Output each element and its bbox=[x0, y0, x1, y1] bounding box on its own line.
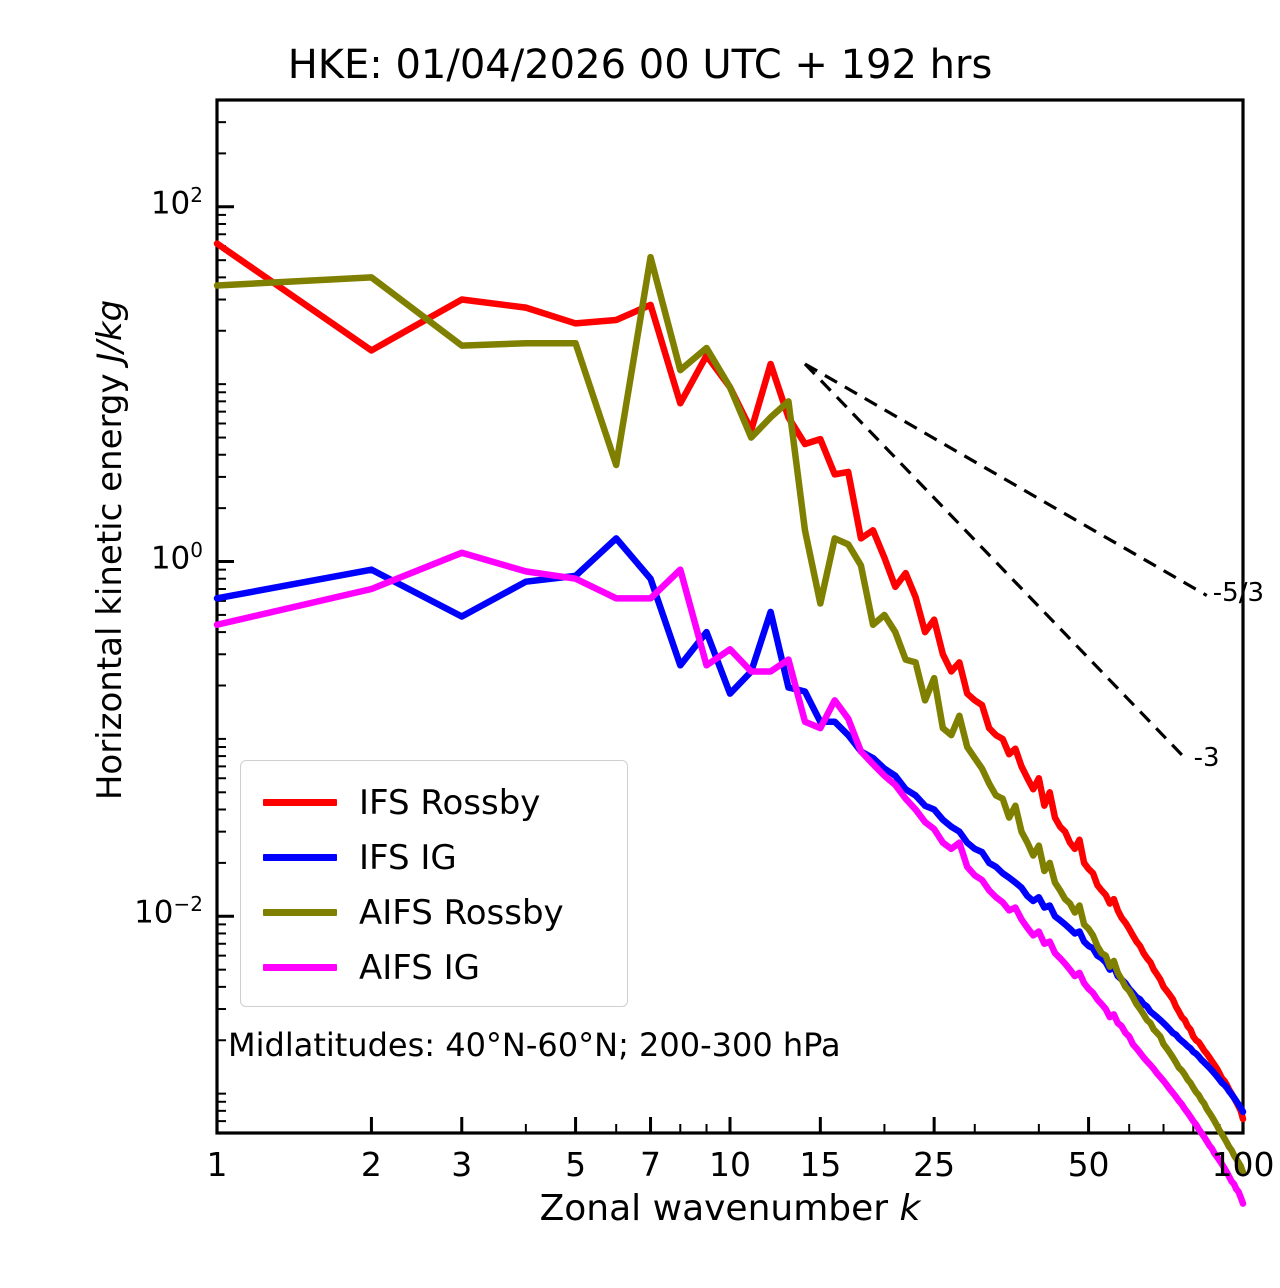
y-tick-label: 10−2 bbox=[134, 892, 203, 930]
legend-label: IFS Rossby bbox=[359, 783, 540, 823]
legend-swatch bbox=[263, 964, 337, 971]
legend-swatch bbox=[263, 854, 337, 861]
legend-label: AIFS IG bbox=[359, 948, 480, 988]
reference-lines bbox=[805, 364, 1207, 761]
x-tick-label: 10 bbox=[680, 1145, 780, 1184]
legend-item-aifs-ig[interactable]: AIFS IG bbox=[241, 940, 627, 995]
x-tick-label: 2 bbox=[321, 1145, 421, 1184]
legend-item-ifs-rossby[interactable]: IFS Rossby bbox=[241, 775, 627, 830]
x-tick-label: 15 bbox=[770, 1145, 870, 1184]
chart-figure: HKE: 01/04/2026 00 UTC + 192 hrs Horizon… bbox=[0, 0, 1280, 1288]
legend-item-aifs-rossby[interactable]: AIFS Rossby bbox=[241, 885, 627, 940]
legend[interactable]: IFS RossbyIFS IGAIFS RossbyAIFS IG bbox=[240, 760, 628, 1007]
y-tick-label: 100 bbox=[151, 538, 203, 576]
reference-line-label: -5/3 bbox=[1213, 578, 1264, 608]
legend-label: AIFS Rossby bbox=[359, 893, 564, 933]
x-tick-label: 100 bbox=[1193, 1145, 1280, 1184]
y-tick-label: 102 bbox=[151, 183, 203, 221]
legend-swatch bbox=[263, 799, 337, 806]
x-tick-label: 1 bbox=[167, 1145, 267, 1184]
x-tick-label: 25 bbox=[884, 1145, 984, 1184]
x-tick-label: 50 bbox=[1039, 1145, 1139, 1184]
legend-item-ifs-ig[interactable]: IFS IG bbox=[241, 830, 627, 885]
legend-label: IFS IG bbox=[359, 838, 457, 878]
reference-line-label: -3 bbox=[1194, 743, 1220, 773]
region-annotation: Midlatitudes: 40°N-60°N; 200-300 hPa bbox=[228, 1026, 841, 1064]
legend-swatch bbox=[263, 909, 337, 916]
x-tick-label: 3 bbox=[412, 1145, 512, 1184]
